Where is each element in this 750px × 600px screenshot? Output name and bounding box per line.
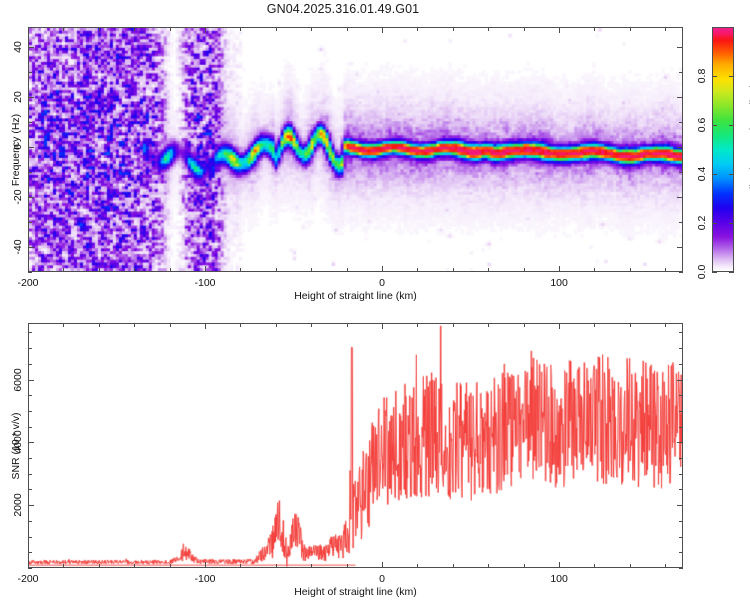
ytick-label: -40	[12, 239, 24, 254]
axis-tick	[28, 222, 32, 223]
axis-tick	[28, 537, 32, 538]
axis-tick	[28, 272, 32, 273]
axis-tick	[205, 266, 206, 272]
axis-tick	[453, 27, 454, 31]
axis-tick	[134, 323, 135, 327]
axis-tick	[28, 489, 32, 490]
axis-tick	[679, 122, 683, 123]
xtick-label: 100	[550, 277, 568, 289]
axis-tick	[679, 395, 683, 396]
axis-tick	[679, 272, 683, 273]
axis-tick	[28, 348, 32, 349]
axis-tick	[665, 564, 666, 568]
axis-tick	[240, 268, 241, 272]
axis-tick	[63, 268, 64, 272]
spectrogram-canvas	[29, 28, 682, 271]
axis-tick	[311, 27, 312, 31]
axis-tick	[679, 568, 683, 569]
axis-tick	[679, 537, 683, 538]
colorbar-tick	[712, 272, 717, 273]
axis-tick	[665, 268, 666, 272]
axis-tick	[677, 147, 683, 148]
colorbar-tick-label: 0.2	[696, 216, 708, 231]
snr-xlabel: Height of straight line (km)	[294, 586, 417, 598]
axis-tick	[99, 27, 100, 31]
axis-tick	[594, 27, 595, 31]
xtick-label: 0	[379, 573, 385, 585]
figure-root: GN04.2025.316.01.49.G01 -200-1000100-40-…	[0, 0, 750, 600]
axis-tick	[677, 505, 683, 506]
axis-tick	[28, 172, 32, 173]
axis-tick	[276, 323, 277, 327]
axis-tick	[63, 27, 64, 31]
axis-tick	[134, 564, 135, 568]
colorbar[interactable]	[712, 27, 734, 272]
axis-tick	[679, 474, 683, 475]
axis-tick	[382, 266, 383, 272]
axis-tick	[677, 47, 683, 48]
axis-tick	[382, 323, 383, 329]
axis-tick	[417, 323, 418, 327]
axis-tick	[679, 411, 683, 412]
axis-tick	[524, 268, 525, 272]
axis-tick	[453, 323, 454, 327]
axis-tick	[679, 222, 683, 223]
axis-tick	[382, 562, 383, 568]
axis-tick	[677, 247, 683, 248]
axis-tick	[488, 268, 489, 272]
colorbar-tick	[729, 174, 734, 175]
axis-tick	[679, 364, 683, 365]
axis-tick	[417, 564, 418, 568]
axis-tick	[488, 323, 489, 327]
axis-tick	[594, 564, 595, 568]
axis-tick	[170, 27, 171, 31]
axis-tick	[311, 323, 312, 327]
axis-tick	[524, 564, 525, 568]
axis-tick	[559, 562, 560, 568]
axis-tick	[679, 348, 683, 349]
axis-tick	[240, 323, 241, 327]
colorbar-tick	[712, 223, 717, 224]
axis-tick	[205, 323, 206, 329]
axis-tick	[28, 521, 32, 522]
axis-tick	[559, 266, 560, 272]
axis-tick	[679, 332, 683, 333]
axis-tick	[240, 27, 241, 31]
axis-tick	[28, 27, 29, 33]
axis-tick	[170, 268, 171, 272]
ytick-label: 2000	[12, 493, 24, 516]
axis-tick	[28, 72, 32, 73]
axis-tick	[347, 27, 348, 31]
axis-tick	[28, 97, 34, 98]
axis-tick	[28, 147, 34, 148]
axis-tick	[28, 247, 34, 248]
colorbar-tick-label: 0.6	[696, 118, 708, 133]
xtick-label: -100	[195, 573, 216, 585]
axis-tick	[28, 122, 32, 123]
axis-tick	[679, 427, 683, 428]
spectrogram-panel[interactable]	[28, 27, 683, 272]
axis-tick	[630, 564, 631, 568]
axis-tick	[311, 564, 312, 568]
colorbar-tick	[729, 272, 734, 273]
axis-tick	[347, 323, 348, 327]
axis-tick	[488, 27, 489, 31]
spectrogram-ylabel: Frequency (Hz)	[10, 113, 22, 185]
axis-tick	[170, 564, 171, 568]
axis-tick	[559, 323, 560, 329]
axis-tick	[28, 332, 32, 333]
axis-tick	[677, 97, 683, 98]
colorbar-gradient	[713, 28, 733, 271]
spectrogram-xlabel: Height of straight line (km)	[294, 290, 417, 302]
axis-tick	[679, 72, 683, 73]
axis-tick	[28, 552, 32, 553]
colorbar-tick-label: 0.8	[696, 69, 708, 84]
axis-tick	[382, 27, 383, 33]
axis-tick	[594, 323, 595, 327]
colorbar-tick	[729, 125, 734, 126]
axis-tick	[347, 564, 348, 568]
axis-tick	[28, 442, 34, 443]
axis-tick	[99, 323, 100, 327]
axis-tick	[679, 489, 683, 490]
axis-tick	[28, 47, 34, 48]
ytick-label: 20	[12, 91, 24, 103]
axis-tick	[453, 268, 454, 272]
axis-tick	[63, 323, 64, 327]
axis-tick	[170, 323, 171, 327]
axis-tick	[28, 380, 34, 381]
axis-tick	[99, 564, 100, 568]
axis-tick	[311, 268, 312, 272]
axis-tick	[28, 364, 32, 365]
axis-tick	[63, 564, 64, 568]
axis-tick	[524, 27, 525, 31]
axis-tick	[559, 27, 560, 33]
snr-panel[interactable]	[28, 323, 683, 568]
snr-canvas	[29, 324, 682, 567]
colorbar-tick	[712, 76, 717, 77]
axis-tick	[28, 411, 32, 412]
axis-tick	[488, 564, 489, 568]
xtick-label: 100	[550, 573, 568, 585]
axis-tick	[99, 268, 100, 272]
axis-tick	[205, 27, 206, 33]
axis-tick	[134, 27, 135, 31]
axis-tick	[205, 562, 206, 568]
axis-tick	[677, 380, 683, 381]
axis-tick	[28, 474, 32, 475]
axis-tick	[28, 505, 34, 506]
axis-tick	[630, 268, 631, 272]
axis-tick	[240, 564, 241, 568]
axis-tick	[28, 458, 32, 459]
axis-tick	[417, 27, 418, 31]
axis-tick	[679, 521, 683, 522]
axis-tick	[665, 27, 666, 31]
ytick-label: -20	[12, 189, 24, 204]
axis-tick	[276, 268, 277, 272]
axis-tick	[28, 427, 32, 428]
axis-tick	[276, 564, 277, 568]
colorbar-tick	[712, 125, 717, 126]
figure-title: GN04.2025.316.01.49.G01	[0, 2, 686, 16]
axis-tick	[524, 323, 525, 327]
axis-tick	[630, 323, 631, 327]
axis-tick	[677, 442, 683, 443]
axis-tick	[28, 568, 32, 569]
axis-tick	[630, 27, 631, 31]
colorbar-tick-label: 0.0	[696, 265, 708, 280]
axis-tick	[417, 268, 418, 272]
axis-tick	[347, 268, 348, 272]
axis-tick	[594, 268, 595, 272]
colorbar-tick	[729, 223, 734, 224]
colorbar-tick-label: 0.4	[696, 167, 708, 182]
snr-ylabel: SNR (10 * v/v)	[10, 412, 22, 479]
axis-tick	[276, 27, 277, 31]
xtick-label: -200	[17, 277, 38, 289]
colorbar-tick	[729, 76, 734, 77]
colorbar-tick	[712, 174, 717, 175]
axis-tick	[134, 268, 135, 272]
axis-tick	[665, 323, 666, 327]
axis-tick	[679, 458, 683, 459]
ytick-label: 40	[12, 41, 24, 53]
axis-tick	[677, 197, 683, 198]
axis-tick	[679, 172, 683, 173]
axis-tick	[453, 564, 454, 568]
xtick-label: -100	[195, 277, 216, 289]
xtick-label: -200	[17, 573, 38, 585]
axis-tick	[28, 197, 34, 198]
xtick-label: 0	[379, 277, 385, 289]
axis-tick	[28, 323, 29, 329]
axis-tick	[679, 552, 683, 553]
ytick-label: 6000	[12, 368, 24, 391]
axis-tick	[28, 395, 32, 396]
